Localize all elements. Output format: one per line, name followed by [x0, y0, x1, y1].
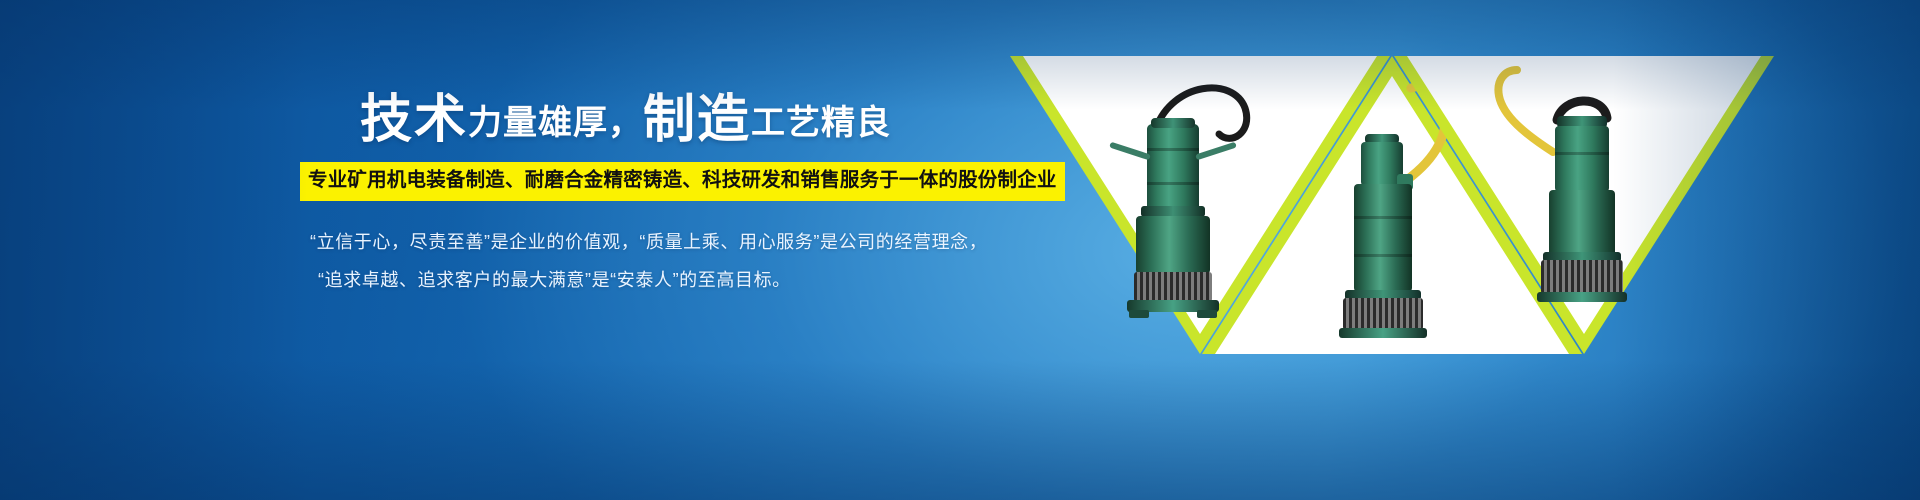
banner-body-text: “立信于心，尽责至善”是企业的价值观，“质量上乘、用心服务”是公司的经营理念， … — [310, 223, 920, 299]
body-line-1: “立信于心，尽责至善”是企业的价值观，“质量上乘、用心服务”是公司的经营理念， — [310, 223, 920, 261]
headline-part-1: 技术 — [360, 91, 468, 149]
banner-headline: 技术力量雄厚，制造工艺精良 — [360, 94, 920, 146]
product-triangles-graphic — [1010, 56, 1770, 366]
pump-1-strainer — [1134, 272, 1212, 302]
pump-1-motor-housing — [1147, 124, 1199, 210]
pump-1-rib-2 — [1147, 182, 1199, 185]
triangle-3-product-area — [1407, 56, 1761, 334]
pump-1-foot-left — [1129, 310, 1149, 318]
banner-text-block: 技术力量雄厚，制造工艺精良 专业矿用机电装备制造、耐磨合金精密铸造、科技研发和销… — [300, 94, 920, 299]
pump-3-base — [1537, 292, 1627, 302]
highlight-bar: 专业矿用机电装备制造、耐磨合金精密铸造、科技研发和销售服务于一体的股份制企业 — [300, 162, 1065, 201]
pump-with-handle — [1407, 56, 1761, 334]
headline-part-3: 制造 — [643, 91, 751, 149]
pump-1-top-cap — [1151, 118, 1195, 128]
pump-1-pump-body — [1136, 216, 1210, 274]
pump-3-pump-body — [1549, 190, 1615, 256]
headline-part-4: 工艺精良 — [751, 104, 891, 142]
pump-3-rib-1 — [1555, 152, 1609, 155]
promotional-banner: 技术力量雄厚，制造工艺精良 专业矿用机电装备制造、耐磨合金精密铸造、科技研发和销… — [0, 0, 1920, 500]
pump-1-rib-1 — [1147, 148, 1199, 151]
triangle-3-down — [1394, 56, 1774, 356]
headline-part-2: 力量雄厚， — [468, 104, 643, 142]
body-line-2: “追求卓越、追求客户的最大满意”是“安泰人”的至高目标。 — [310, 261, 920, 299]
pump-3-motor-housing — [1555, 126, 1609, 192]
pump-3-strainer — [1541, 260, 1623, 294]
